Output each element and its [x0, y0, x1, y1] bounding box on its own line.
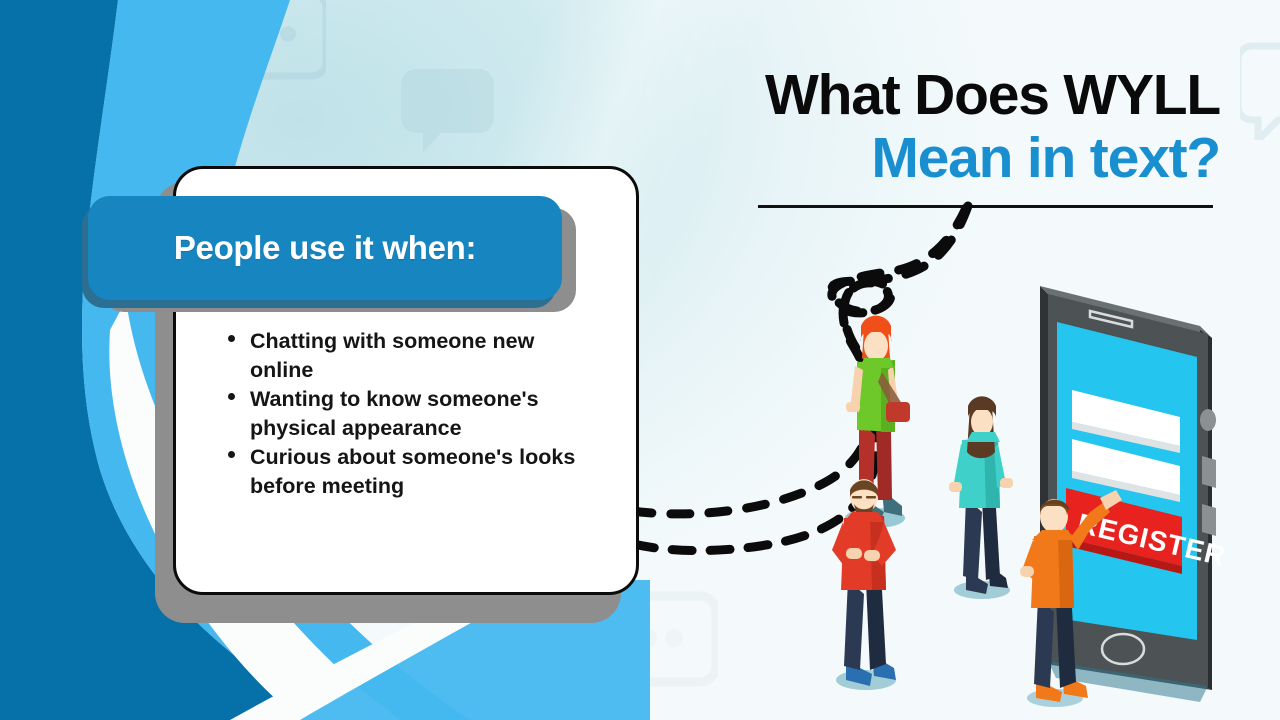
banner-label: People use it when: [174, 229, 476, 267]
bullet-dot-icon [228, 393, 235, 400]
title-line-2: Mean in text? [700, 128, 1220, 190]
banner: People use it when: [88, 196, 562, 300]
chat-bubble-watermark-top-right [1240, 40, 1280, 140]
list-item-text: Curious about someone's looks before mee… [250, 445, 575, 498]
bullet-dot-icon [228, 335, 235, 342]
illustration: REGISTER [760, 250, 1280, 720]
title-block: What Does WYLL Mean in text? [700, 66, 1220, 190]
infographic-canvas: What Does WYLL Mean in text? [0, 0, 1280, 720]
bullet-list: Chatting with someone new online Wanting… [228, 327, 588, 502]
bullet-dot-icon [228, 451, 235, 458]
list-item: Chatting with someone new online [228, 327, 588, 384]
title-underline [758, 205, 1213, 208]
list-item: Curious about someone's looks before mee… [228, 443, 588, 500]
person-woman-teal-top [949, 396, 1013, 599]
title-line-1: What Does WYLL [700, 66, 1220, 124]
list-item-text: Chatting with someone new online [250, 329, 534, 382]
list-item: Wanting to know someone's physical appea… [228, 385, 588, 442]
list-item-text: Wanting to know someone's physical appea… [250, 387, 539, 440]
